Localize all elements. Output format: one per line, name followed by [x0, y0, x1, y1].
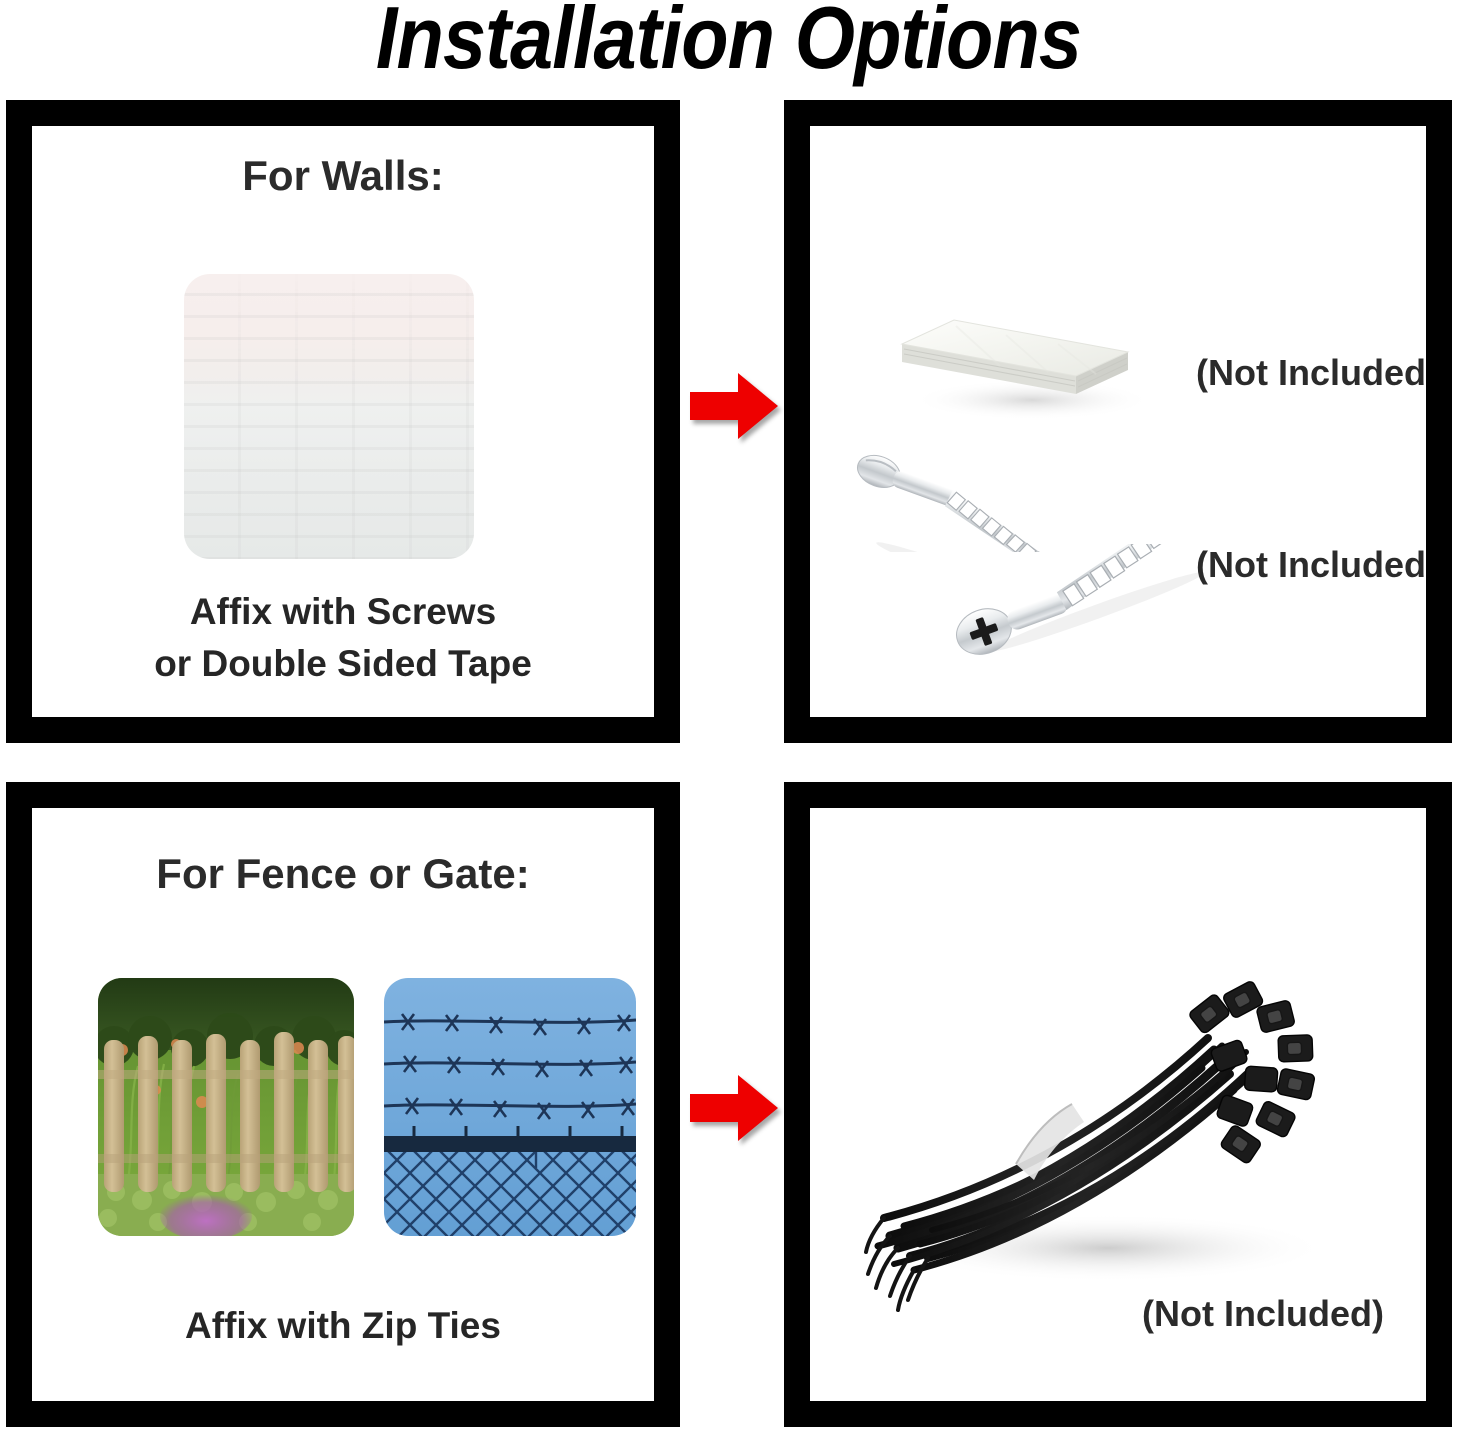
panel-walls-heading: For Walls:	[32, 152, 654, 200]
panel-hardware: (Not Included)	[784, 100, 1452, 743]
panel-fence-caption: Affix with Zip Ties	[32, 1300, 654, 1353]
zip-ties-not-included-label: (Not Included)	[1142, 1293, 1384, 1335]
panel-walls-caption: Affix with Screws or Double Sided Tape	[32, 586, 654, 691]
tape-not-included-label: (Not Included)	[1196, 352, 1426, 394]
red-right-arrow-icon-top	[688, 370, 780, 442]
installation-options-infographic: Installation Options For Walls: Affix wi…	[0, 0, 1457, 1434]
red-right-arrow-icon-bottom	[688, 1072, 780, 1144]
picket-fence-photo	[98, 978, 354, 1236]
zip-tie-bundle-image	[858, 918, 1388, 1338]
caption-line-1: Affix with Zip Ties	[32, 1300, 654, 1353]
caption-line-1: Affix with Screws	[32, 586, 654, 639]
white-brick-wall-photo	[184, 274, 474, 559]
caption-line-2: or Double Sided Tape	[32, 638, 654, 691]
double-sided-tape-stack-image	[882, 248, 1162, 428]
screw-not-included-label: (Not Included)	[1196, 544, 1426, 586]
panel-for-fence-or-gate: For Fence or Gate:	[6, 782, 680, 1427]
panel-zip-ties: (Not Included)	[784, 782, 1452, 1427]
panel-fence-heading: For Fence or Gate:	[32, 850, 654, 898]
page-title: Installation Options	[87, 0, 1369, 84]
screw-lower-image	[946, 544, 1214, 664]
screw-upper-image	[850, 444, 1118, 552]
panel-for-walls: For Walls: Affix with Screws or Double S…	[6, 100, 680, 743]
barbed-wire-chainlink-photo	[384, 978, 636, 1236]
